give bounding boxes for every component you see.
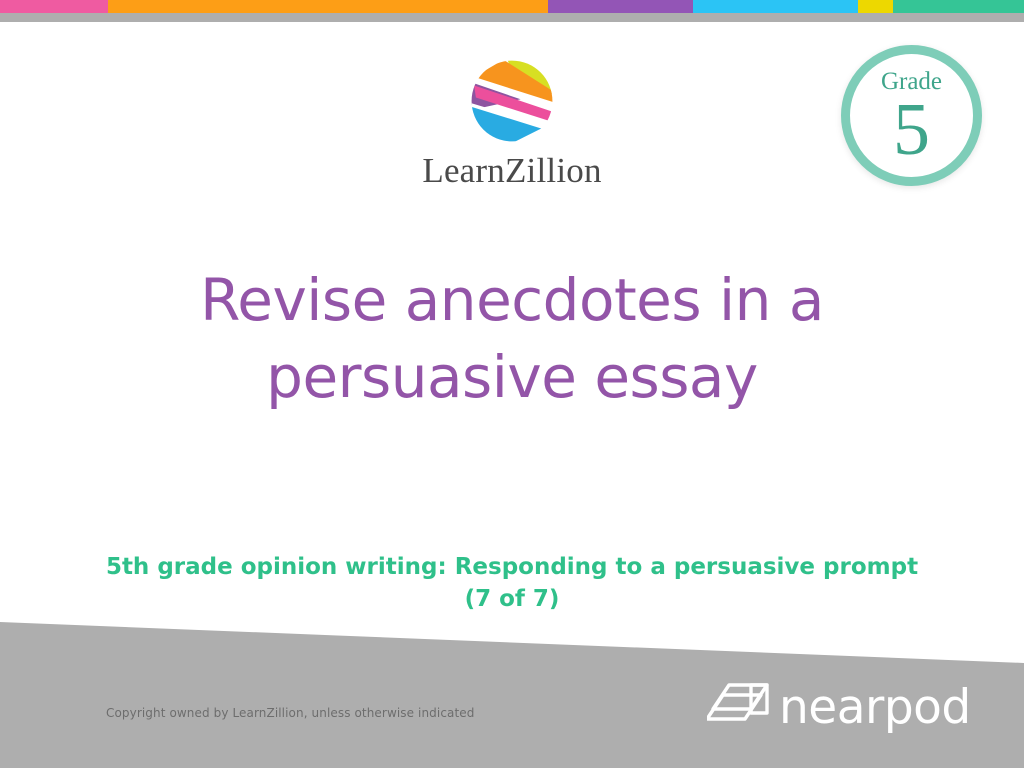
nearpod-logo: nearpod <box>707 679 971 735</box>
color-bar-segment-yellow <box>858 0 893 13</box>
copyright-notice: Copyright owned by LearnZillion, unless … <box>106 706 475 720</box>
color-bar-segment-green <box>893 0 1024 13</box>
color-bar-segment-purple <box>548 0 693 13</box>
slide-subtitle-line-2: (7 of 7) <box>58 584 966 616</box>
grade-badge: Grade 5 <box>841 45 982 186</box>
slide-subtitle-line-1: 5th grade opinion writing: Responding to… <box>58 552 966 584</box>
slide-title-line-2: persuasive essay <box>70 339 954 416</box>
grade-badge-number: 5 <box>893 95 930 165</box>
color-bar-segment-pink <box>0 0 108 13</box>
slide-title: Revise anecdotes in a persuasive essay <box>70 262 954 416</box>
color-bar-segment-orange <box>108 0 548 13</box>
learnzillion-wordmark: LearnZillion <box>422 153 601 188</box>
learnzillion-circle-logo <box>469 58 555 144</box>
brand-color-bar <box>0 0 1024 13</box>
color-bar-segment-cyan <box>693 0 858 13</box>
slide-subtitle: 5th grade opinion writing: Responding to… <box>58 552 966 615</box>
nearpod-slabs-icon <box>707 679 773 735</box>
slide-title-line-1: Revise anecdotes in a <box>70 262 954 339</box>
header-grey-strip <box>0 13 1024 22</box>
nearpod-wordmark: nearpod <box>779 684 971 731</box>
slide-canvas: LearnZillion Grade 5 Revise anecdotes in… <box>0 0 1024 768</box>
